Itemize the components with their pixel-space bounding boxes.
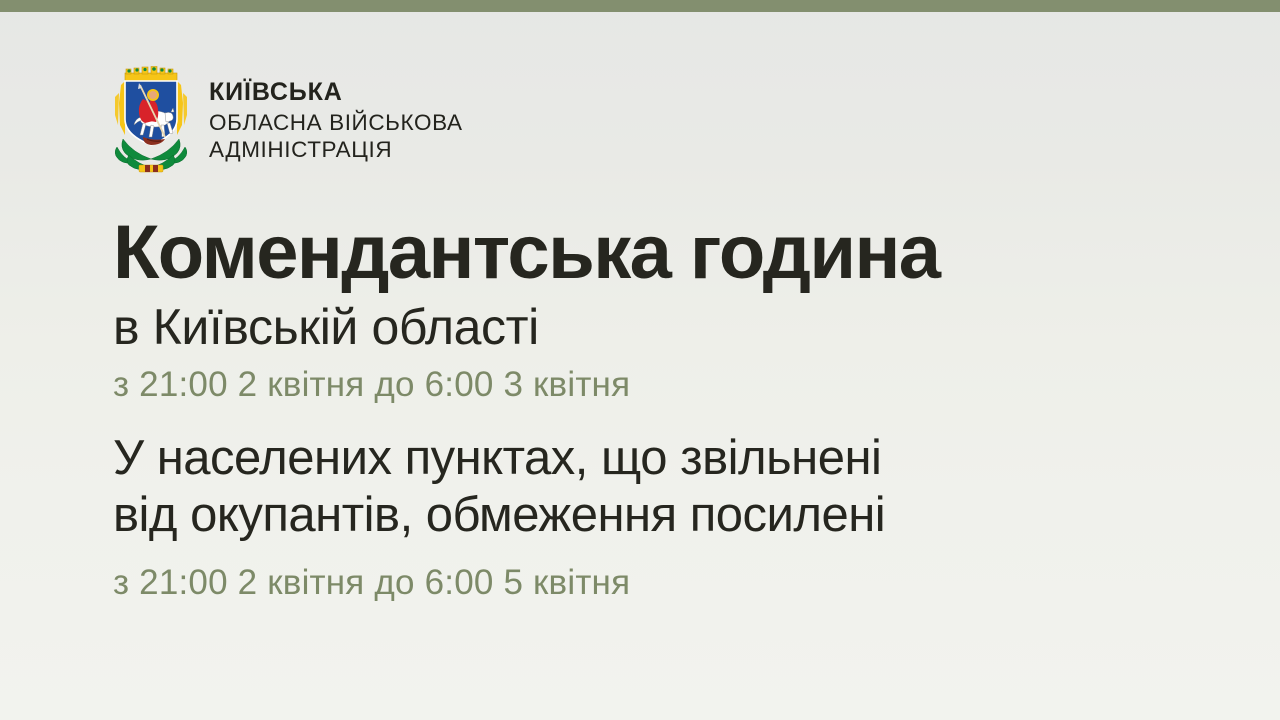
page-title: Комендантська година bbox=[113, 215, 1233, 291]
curfew-announcement-poster: КИЇВСЬКА ОБЛАСНА ВІЙСЬКОВА АДМІНІСТРАЦІЯ… bbox=[0, 0, 1280, 720]
primary-curfew-timerange: з 21:00 2 квітня до 6:00 3 квітня bbox=[113, 366, 1233, 405]
page-subtitle: в Київській області bbox=[113, 301, 1233, 354]
top-accent-bar bbox=[0, 0, 1280, 12]
org-name-line-3: АДМІНІСТРАЦІЯ bbox=[209, 139, 463, 162]
organization-header: КИЇВСЬКА ОБЛАСНА ВІЙСЬКОВА АДМІНІСТРАЦІЯ bbox=[113, 63, 463, 178]
secondary-curfew-timerange: з 21:00 2 квітня до 6:00 5 квітня bbox=[113, 564, 1233, 603]
announcement-content: Комендантська година в Київській області… bbox=[113, 215, 1233, 602]
liberated-areas-notice: У населених пунктах, що звільнені від ок… bbox=[113, 430, 1233, 544]
org-name-line-2: ОБЛАСНА ВІЙСЬКОВА bbox=[209, 112, 463, 135]
organization-name-block: КИЇВСЬКА ОБЛАСНА ВІЙСЬКОВА АДМІНІСТРАЦІЯ bbox=[209, 63, 463, 165]
org-name-line-1: КИЇВСЬКА bbox=[209, 80, 463, 105]
notice-line-1: У населених пунктах, що звільнені bbox=[113, 430, 1233, 487]
kyiv-oblast-coat-of-arms-icon bbox=[113, 63, 189, 178]
notice-line-2: від окупантів, обмеження посилені bbox=[113, 487, 1233, 544]
